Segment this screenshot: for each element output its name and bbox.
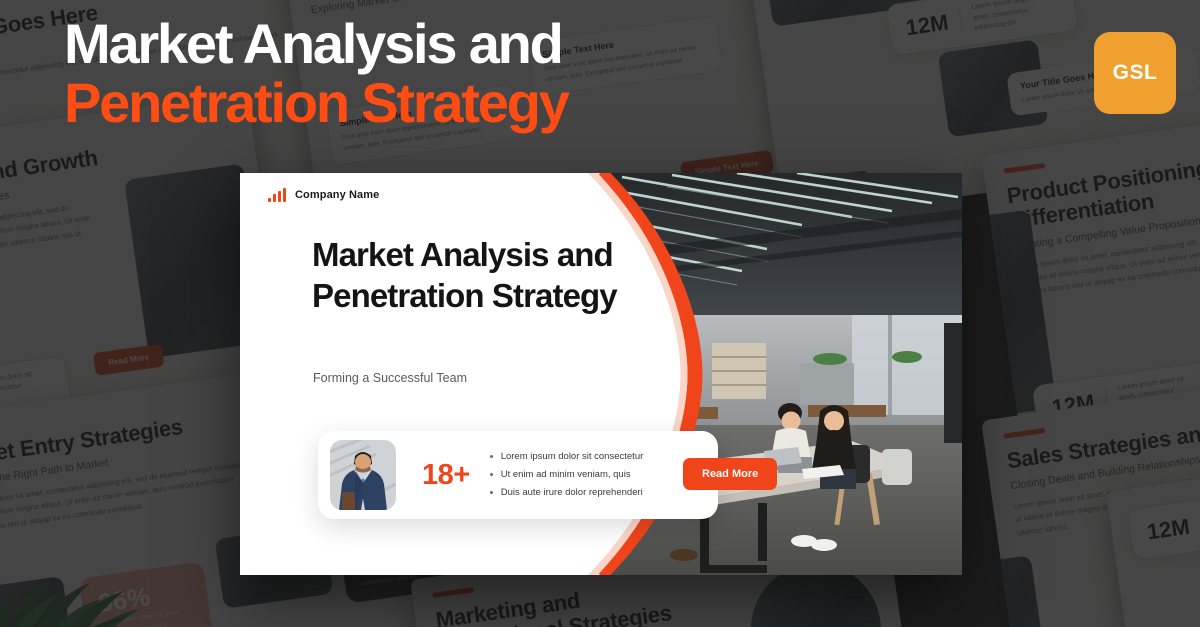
info-card: 18+ Lorem ipsum dolor sit consectetur Ut…: [318, 431, 718, 519]
list-item: Ut enim ad minim veniam, quis: [490, 466, 644, 484]
avatar: [330, 440, 396, 510]
bg-slide-photo: [981, 555, 1047, 627]
avatar-illustration: [330, 440, 396, 510]
plant-decoration: [0, 513, 190, 627]
company-name-label: Company Name: [295, 189, 379, 201]
bg-stat-pill: 12M Lorem ipsum dolor sit amet, consecte…: [1127, 483, 1200, 560]
read-more-button[interactable]: Read More: [683, 458, 777, 490]
bg-stat-value: 12M: [904, 9, 950, 41]
bg-slide-body: Lorem ipsum dolor sit amet, consectetur …: [0, 198, 98, 282]
bg-stat-text: Lorem ipsum dolor sit amet, consectetur …: [971, 0, 1061, 34]
slide-logo: Company Name: [268, 188, 379, 202]
bar-chart-icon: [268, 188, 286, 202]
list-item: Lorem ipsum dolor sit consectetur: [490, 448, 644, 466]
page-title-line-1: Market Analysis and: [64, 14, 704, 73]
page-title: Market Analysis and Penetration Strategy: [64, 14, 704, 133]
stat-value: 18+: [422, 459, 470, 492]
brand-badge-label: GSL: [1113, 61, 1158, 85]
slide-subtitle: Forming a Successful Team: [313, 371, 467, 385]
bg-slide-title: Marketing and Promotional Strategies: [434, 570, 708, 627]
accent-bar: [1003, 163, 1045, 174]
accent-bar: [1003, 428, 1045, 439]
divider: [959, 9, 963, 31]
bullet-list: Lorem ipsum dolor sit consectetur Ut eni…: [490, 448, 644, 502]
bg-stat-value: 12M: [1145, 514, 1191, 546]
brand-badge[interactable]: GSL: [1094, 32, 1176, 114]
bg-read-more-button[interactable]: Read More: [93, 344, 164, 376]
list-item: Duis aute irure dolor reprehenderi: [490, 484, 644, 502]
poster-canvas: Company Name Your Title Goes Here Simple…: [0, 0, 1200, 627]
accent-bar: [432, 587, 474, 598]
featured-slide[interactable]: Company Name Market Analysis and Penetra…: [240, 173, 962, 575]
page-title-line-2: Penetration Strategy: [64, 73, 704, 132]
slide-heading: Market Analysis and Penetration Strategy: [312, 235, 622, 317]
